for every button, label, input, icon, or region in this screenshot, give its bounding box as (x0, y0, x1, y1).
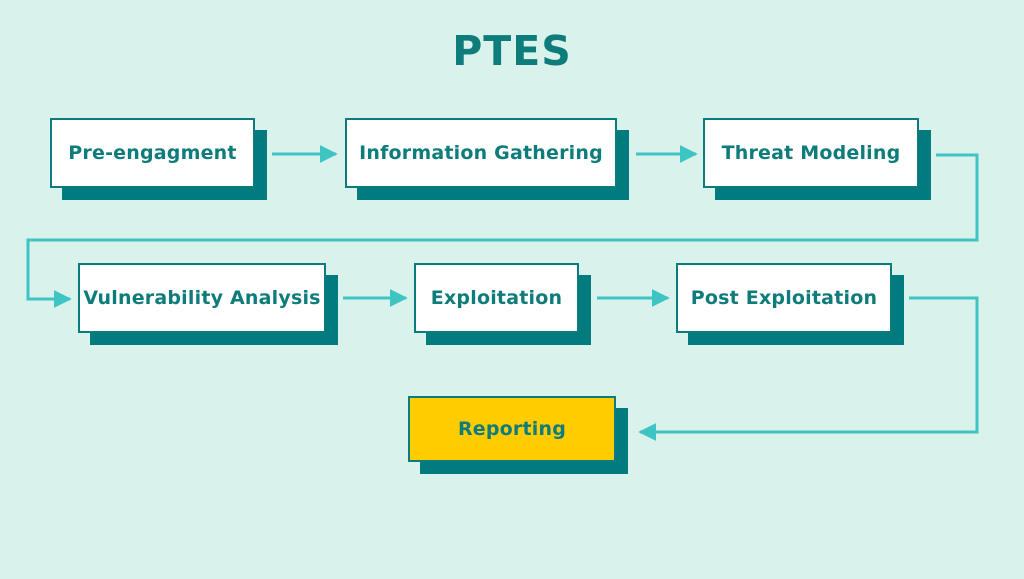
node-threat-modeling[interactable]: Threat Modeling (703, 118, 919, 188)
node-exploitation[interactable]: Exploitation (414, 263, 579, 333)
node-label-threat-modeling: Threat Modeling (722, 142, 901, 164)
node-label-vulnerability-analysis: Vulnerability Analysis (83, 287, 320, 309)
node-pre-engagment[interactable]: Pre-engagment (50, 118, 255, 188)
node-label-pre-engagment: Pre-engagment (68, 142, 236, 164)
node-label-reporting: Reporting (458, 418, 566, 440)
node-reporting[interactable]: Reporting (408, 396, 616, 462)
node-label-post-exploitation: Post Exploitation (691, 287, 877, 309)
node-label-exploitation: Exploitation (431, 287, 562, 309)
node-post-exploitation[interactable]: Post Exploitation (676, 263, 892, 333)
node-label-information-gathering: Information Gathering (359, 142, 603, 164)
node-information-gathering[interactable]: Information Gathering (345, 118, 617, 188)
diagram-canvas: PTES Pre-engagmen (0, 0, 1024, 579)
node-vulnerability-analysis[interactable]: Vulnerability Analysis (78, 263, 326, 333)
